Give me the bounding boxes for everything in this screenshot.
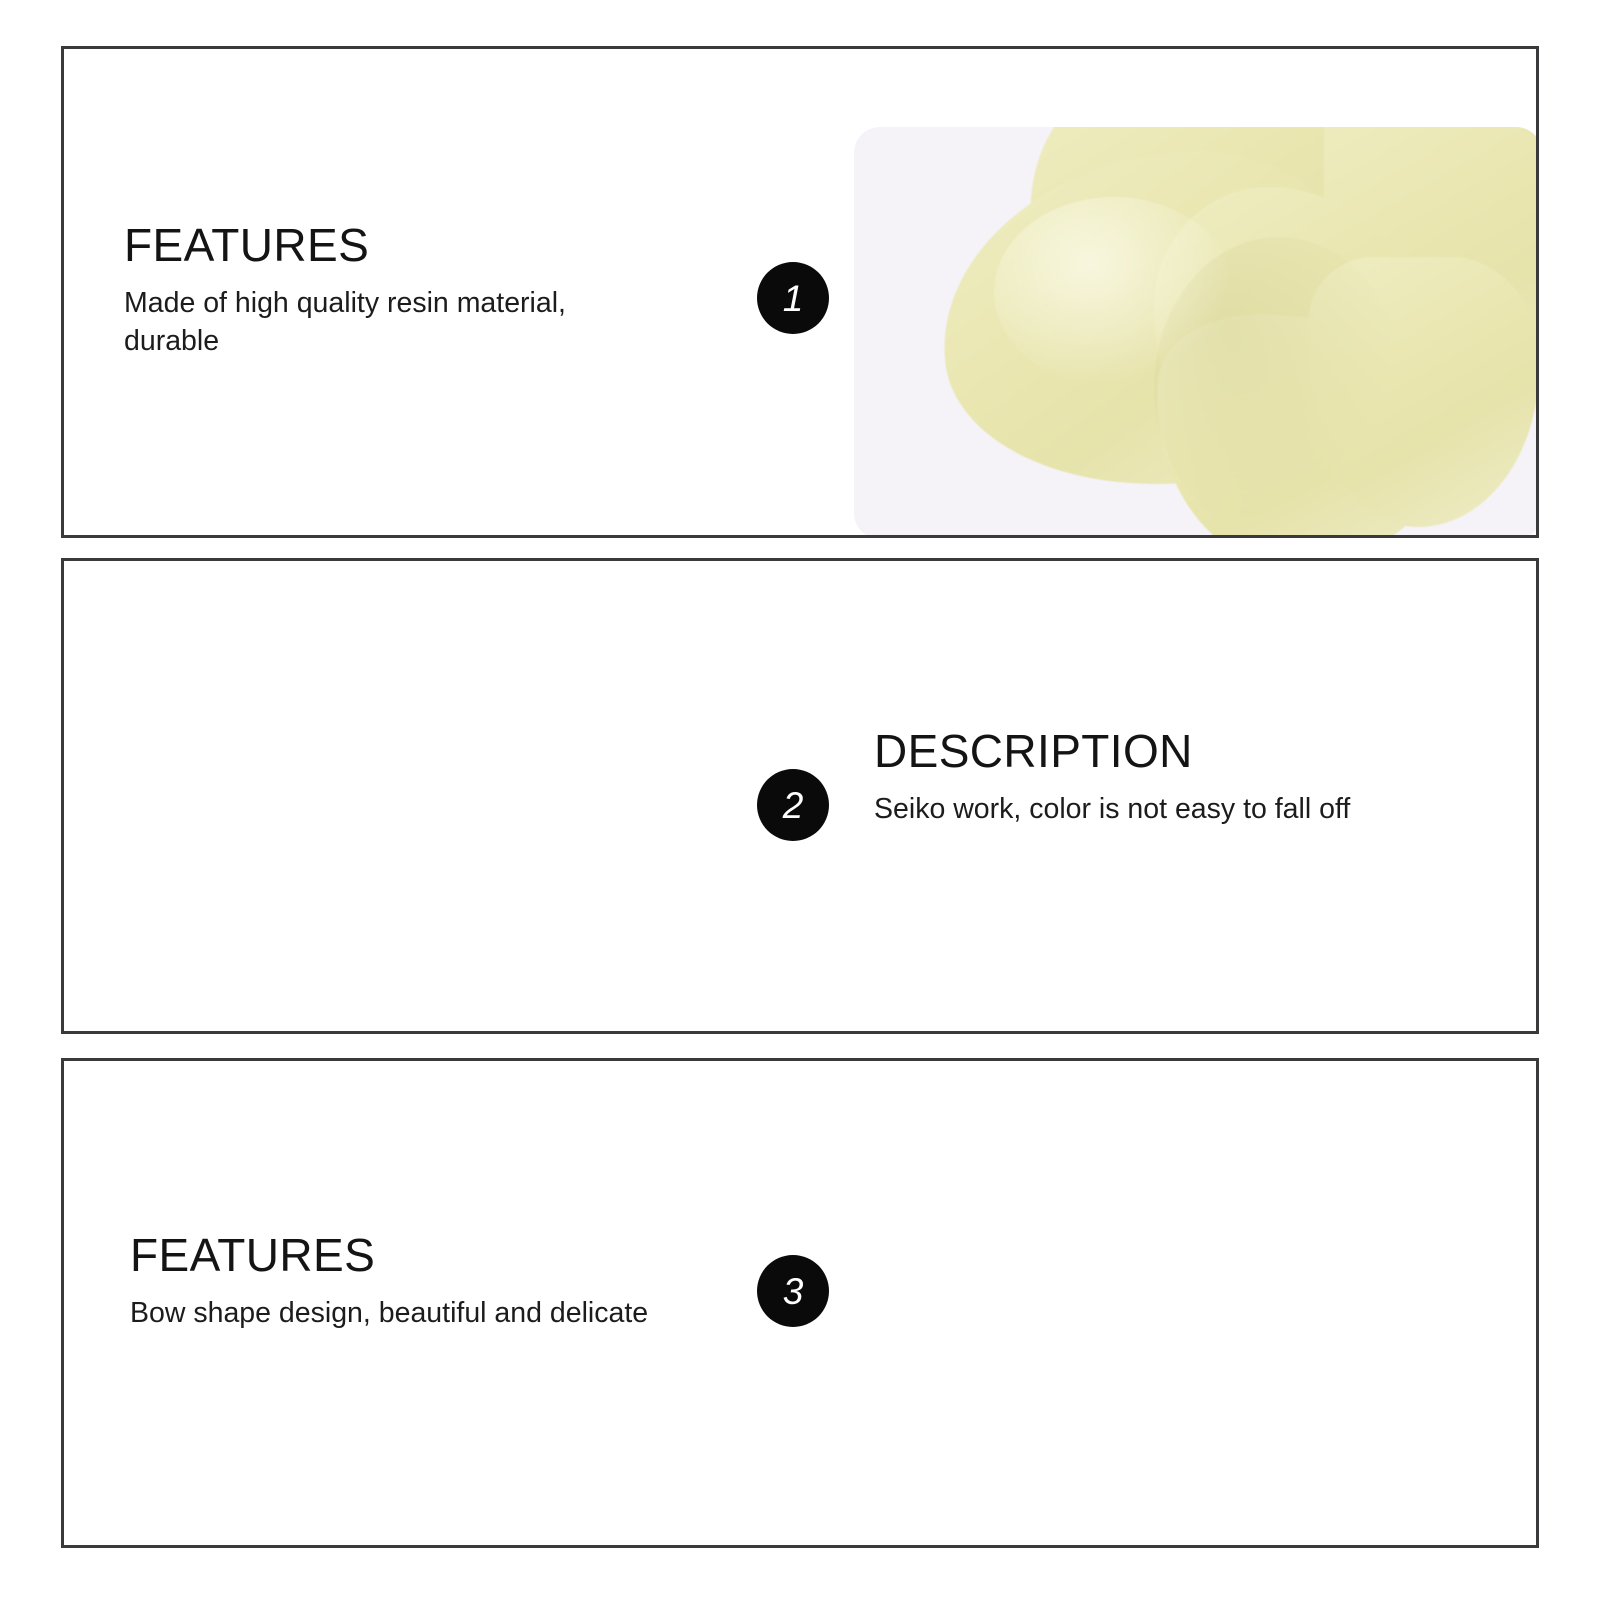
panel-1-body-text: Made of high quality resin material, dur… [124,285,644,361]
step-badge-2: 2 [757,769,829,841]
panel-3-text-block: FEATURES Bow shape design, beautiful and… [130,1231,648,1333]
product-feature-infographic: FEATURES Made of high quality resin mate… [0,0,1603,1603]
panel-1-text-block: FEATURES Made of high quality resin mate… [124,221,644,361]
panel-3-heading: FEATURES [130,1231,648,1279]
yellow-bow-macro-photo [854,127,1539,538]
step-badge-1: 1 [757,262,829,334]
panel-2-body-text: Seiko work, color is not easy to fall of… [874,791,1350,829]
panel-3-body-text: Bow shape design, beautiful and delicate [130,1295,648,1333]
step-badge-3: 3 [757,1255,829,1327]
panel-1-heading: FEATURES [124,221,644,269]
panel-2-text-block: DESCRIPTION Seiko work, color is not eas… [874,727,1350,829]
panel-2-heading: DESCRIPTION [874,727,1350,775]
yellow-bow-image [854,127,1539,538]
